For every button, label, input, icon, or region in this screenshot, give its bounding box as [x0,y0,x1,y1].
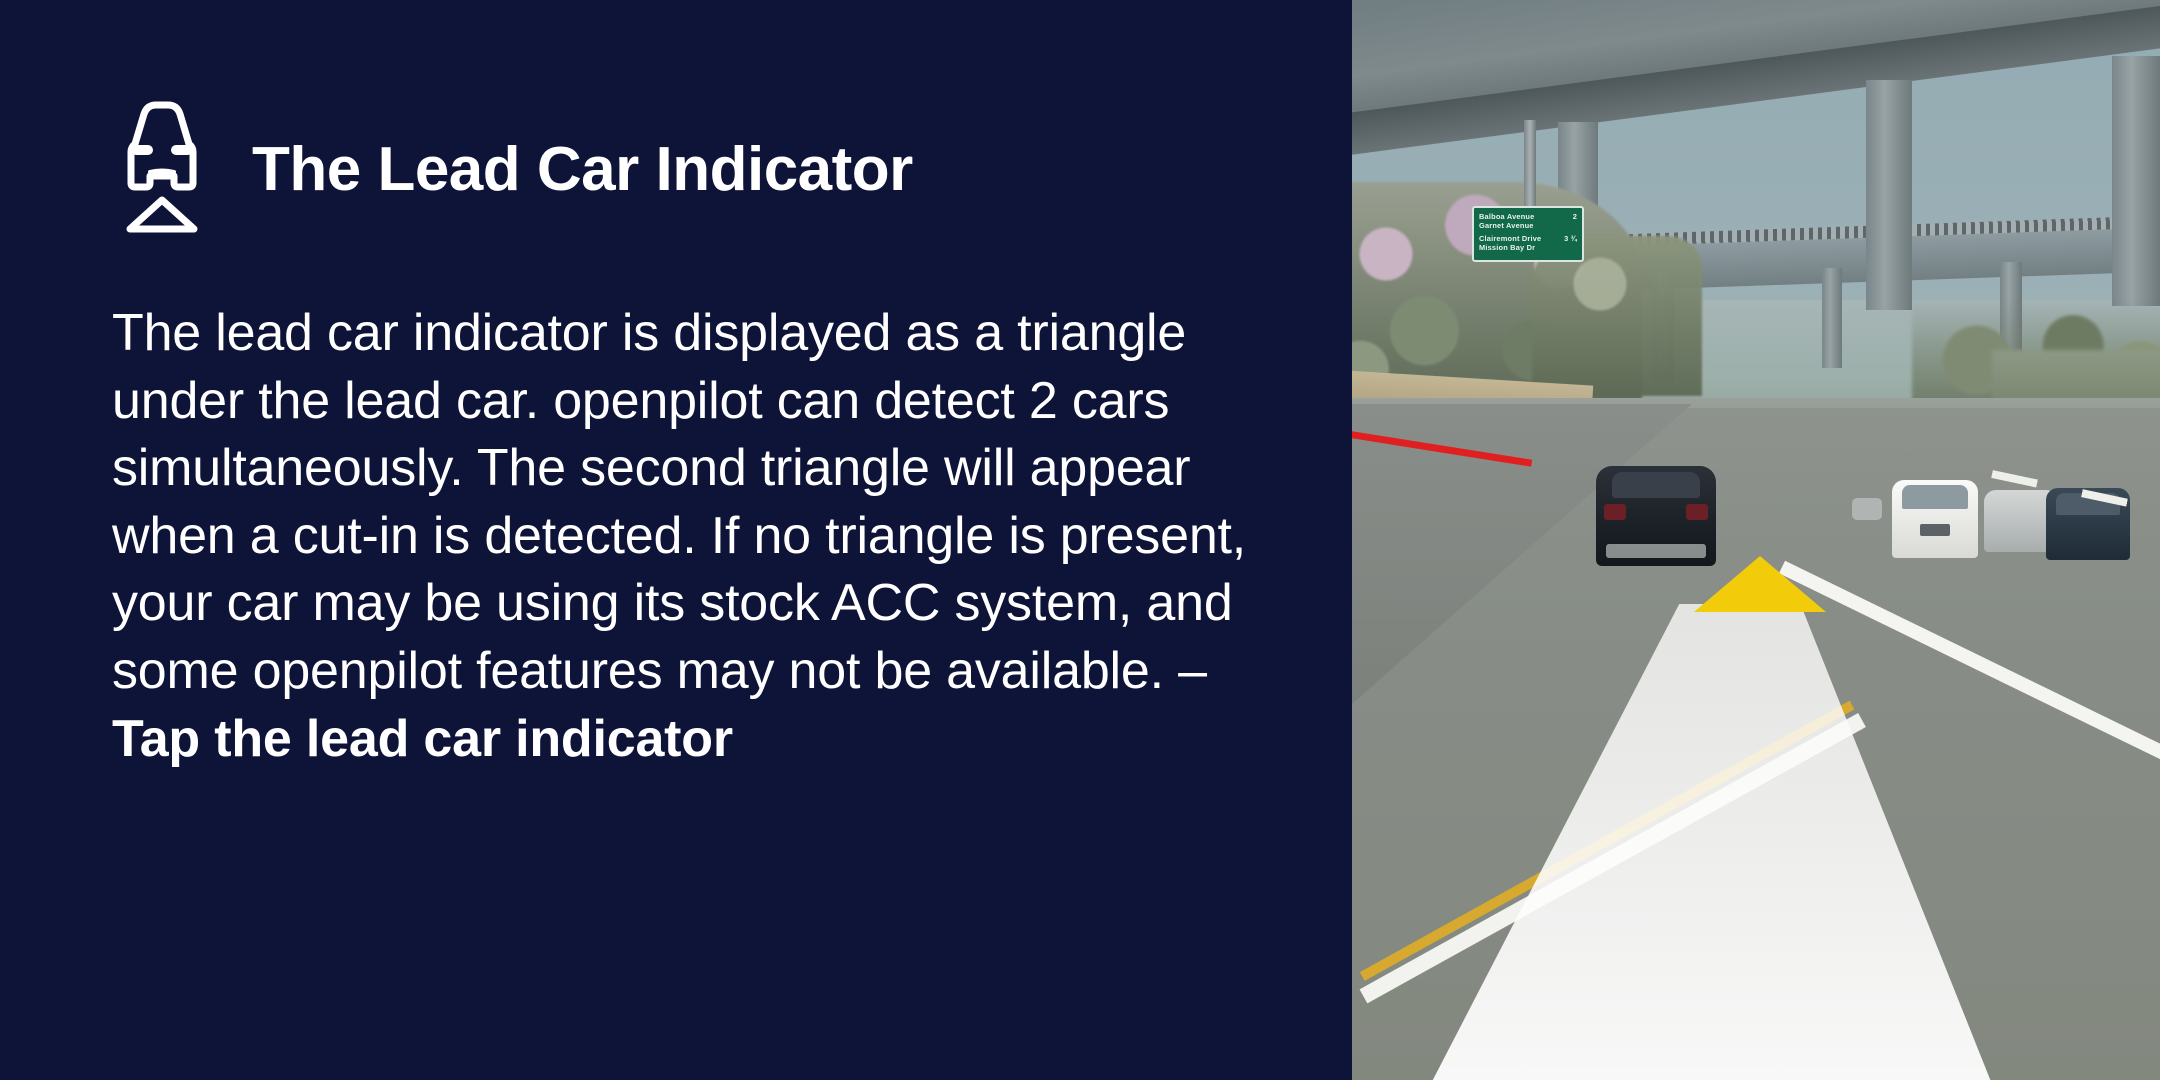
lead-car [1596,466,1716,566]
lead-car-rear-window [1612,472,1700,498]
sign-line-2: Garnet Avenue [1479,221,1534,230]
taillight-right [1686,504,1708,520]
sign-line-3: Clairemont Drive [1479,234,1541,243]
white-suv-rear-window [1902,485,1968,509]
distant-vehicle [1852,498,1882,520]
driving-scene-photo: Balboa Avenue Garnet Avenue 2 Clairemont… [1352,0,2160,1080]
lead-car-triangle[interactable] [1694,556,1826,612]
overpass-column [1866,80,1912,310]
panel-header: The Lead Car Indicator [108,88,913,238]
cta-text[interactable]: Tap the lead car indicator [112,710,733,768]
far-overpass-column [1822,268,1842,368]
panel-body-text: The lead car indicator is displayed as a… [112,300,1292,773]
highway-guide-sign: Balboa Avenue Garnet Avenue 2 Clairemont… [1472,206,1584,262]
sign-distance-2: 3 ¾ [1560,234,1577,243]
sign-post [1524,120,1536,210]
overpass-column [2112,56,2160,306]
sign-distance-1: 2 [1569,212,1577,221]
lead-car-indicator-icon [108,88,216,238]
sign-line-4: Mission Bay Dr [1479,243,1541,252]
white-suv [1892,480,1978,558]
slide-root: The Lead Car Indicator The lead car indi… [0,0,2160,1080]
sign-line-1: Balboa Avenue [1479,212,1534,221]
info-panel: The Lead Car Indicator The lead car indi… [0,0,1352,1080]
taillight-left [1604,504,1626,520]
page-title: The Lead Car Indicator [252,139,913,201]
body-paragraph: The lead car indicator is displayed as a… [112,304,1246,700]
white-suv-plate [1920,524,1950,536]
